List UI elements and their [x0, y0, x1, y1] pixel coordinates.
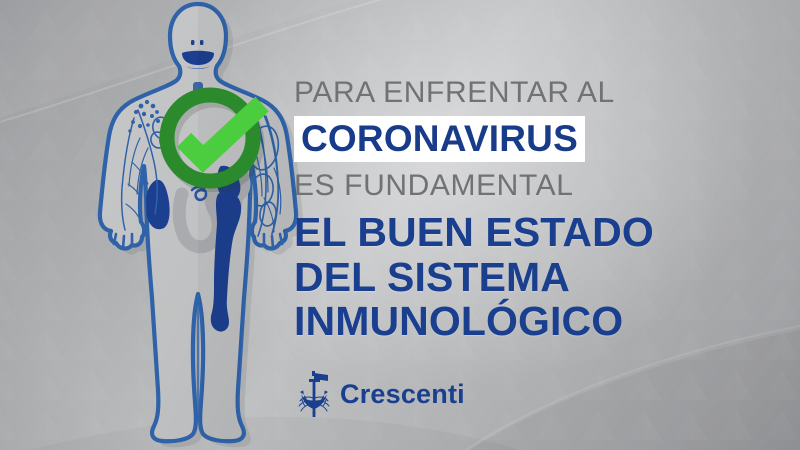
- highlight-word: CORONAVIRUS: [301, 120, 578, 157]
- green-check-circle-icon: [156, 84, 278, 192]
- highlight-band: CORONAVIRUS: [294, 116, 585, 162]
- headline-line-2: DEL SISTEMA: [294, 255, 764, 300]
- main-headline: EL BUEN ESTADO DEL SISTEMA INMUNOLÓGICO: [294, 210, 764, 344]
- headline-line-1: EL BUEN ESTADO: [294, 210, 764, 255]
- eyebrow-line-1: PARA ENFRENTAR AL: [294, 78, 764, 108]
- anchor-crest-icon: [297, 368, 331, 418]
- brand-lockup: Crescenti: [297, 368, 465, 418]
- headline-block: PARA ENFRENTAR AL CORONAVIRUS ES FUNDAME…: [294, 78, 764, 344]
- poster-canvas: PARA ENFRENTAR AL CORONAVIRUS ES FUNDAME…: [0, 0, 800, 450]
- headline-line-3: INMUNOLÓGICO: [294, 299, 764, 344]
- eyebrow-line-2: ES FUNDAMENTAL: [294, 171, 764, 201]
- human-body-figure: [78, 0, 318, 450]
- brand-name: Crescenti: [340, 381, 465, 408]
